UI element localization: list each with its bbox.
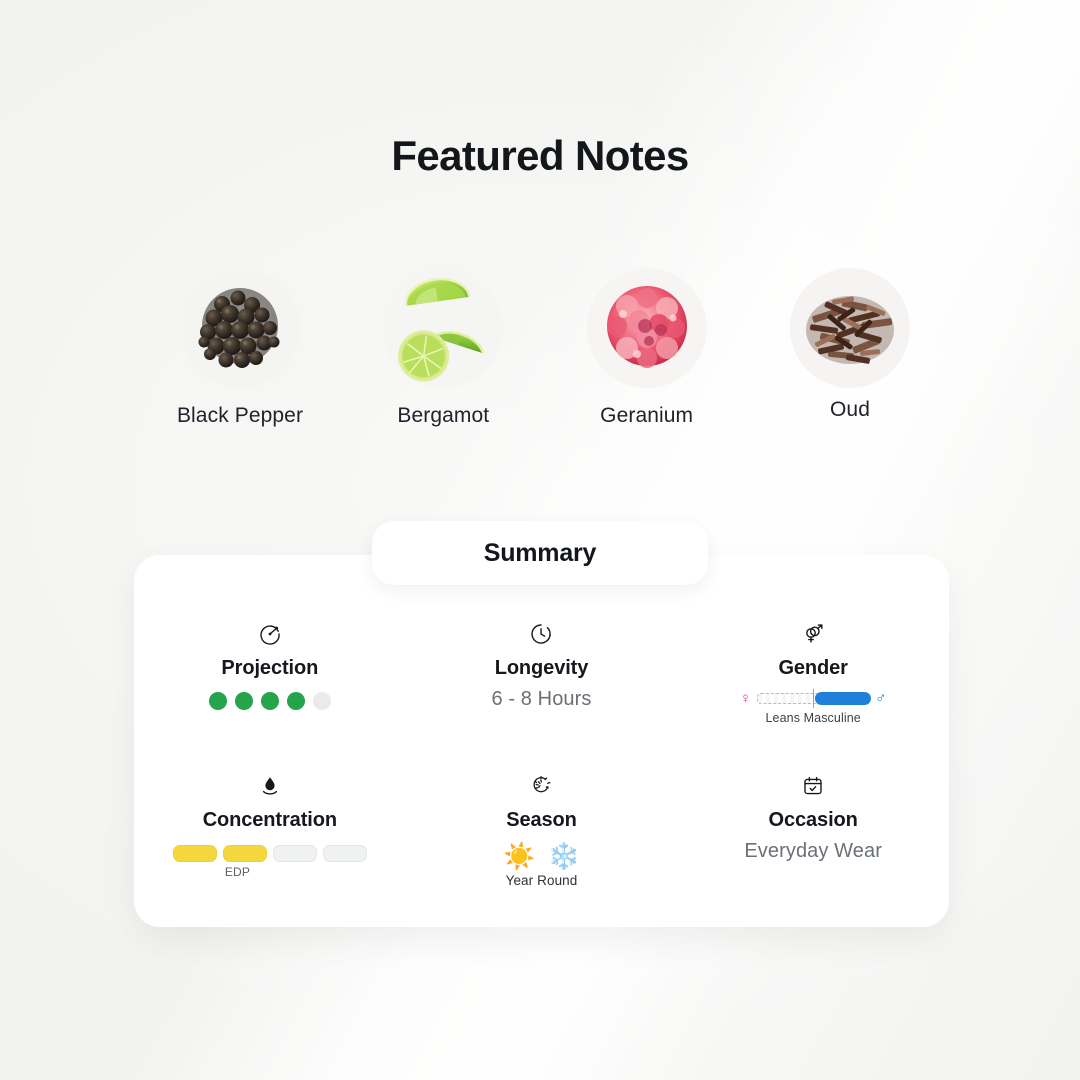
season-caption: Year Round bbox=[506, 873, 578, 888]
projection-dot bbox=[287, 692, 305, 710]
mars-icon: ♂ bbox=[875, 691, 886, 706]
stat-season: Season ☀️ ❄️ Year Round bbox=[406, 767, 678, 919]
concentration-bar bbox=[223, 845, 267, 862]
droplet-icon bbox=[258, 771, 282, 801]
note-item-bergamot[interactable]: Bergamot bbox=[353, 268, 533, 428]
featured-notes-row: Black Pepper bbox=[150, 268, 940, 428]
stat-title: Concentration bbox=[203, 809, 337, 832]
page-title: Featured Notes bbox=[0, 132, 1080, 180]
snowflake-emoji: ❄️ bbox=[547, 843, 579, 869]
projection-dot bbox=[261, 692, 279, 710]
concentration-bar bbox=[173, 845, 217, 862]
stat-title: Projection bbox=[221, 657, 318, 680]
stat-value: Everyday Wear bbox=[744, 840, 882, 863]
gender-caption: Leans Masculine bbox=[766, 711, 861, 725]
stat-title: Season bbox=[506, 809, 577, 832]
projection-dot bbox=[313, 692, 331, 710]
note-item-oud[interactable]: Oud bbox=[760, 268, 940, 422]
stat-title: Longevity bbox=[495, 657, 589, 680]
concentration-bars bbox=[173, 845, 367, 862]
oud-wood-chips-image bbox=[790, 268, 910, 388]
concentration-caption: EDP bbox=[225, 865, 250, 879]
stat-occasion: Occasion Everyday Wear bbox=[677, 767, 949, 919]
gender-slider[interactable]: ♀ ♂ bbox=[740, 691, 887, 706]
stat-projection: Projection bbox=[134, 615, 406, 767]
perfume-summary-page: Featured Notes bbox=[0, 0, 1080, 1080]
calendar-check-icon bbox=[801, 771, 825, 801]
summary-card: Projection bbox=[134, 555, 949, 927]
note-label: Geranium bbox=[600, 404, 693, 428]
stat-title: Gender bbox=[778, 657, 847, 680]
stat-longevity: Longevity 6 - 8 Hours bbox=[406, 615, 678, 767]
gender-slider-track[interactable] bbox=[757, 692, 869, 705]
note-item-geranium[interactable]: Geranium bbox=[557, 268, 737, 428]
projection-dot bbox=[235, 692, 253, 710]
projection-dot bbox=[209, 692, 227, 710]
projection-dots bbox=[209, 692, 331, 710]
stat-concentration: Concentration EDP bbox=[134, 767, 406, 919]
note-label: Black Pepper bbox=[177, 404, 303, 428]
summary-pill: Summary bbox=[372, 521, 708, 585]
sun-emoji: ☀️ bbox=[503, 843, 535, 869]
clock-icon bbox=[529, 619, 553, 649]
pink-geranium-flower-image bbox=[587, 268, 707, 388]
sun-burst-icon bbox=[529, 771, 553, 801]
note-label: Oud bbox=[830, 398, 870, 422]
stat-gender: Gender ♀ ♂ Leans Masculine bbox=[677, 615, 949, 767]
stat-title: Occasion bbox=[769, 809, 858, 832]
gender-venus-mars-icon bbox=[801, 619, 825, 649]
summary-stats-grid: Projection bbox=[134, 615, 949, 919]
stat-value: 6 - 8 Hours bbox=[491, 688, 591, 711]
note-label: Bergamot bbox=[397, 404, 489, 428]
gender-slider-fill bbox=[815, 692, 871, 705]
gender-slider-center-tick bbox=[813, 689, 814, 708]
black-peppercorns-image bbox=[180, 268, 300, 388]
venus-icon: ♀ bbox=[740, 691, 751, 706]
concentration-meter: EDP bbox=[173, 845, 367, 879]
summary-pill-label: Summary bbox=[484, 539, 597, 568]
concentration-bar bbox=[323, 845, 367, 862]
season-emojis: ☀️ ❄️ bbox=[503, 843, 580, 869]
note-item-black-pepper[interactable]: Black Pepper bbox=[150, 268, 330, 428]
gauge-icon bbox=[258, 619, 282, 649]
lime-wedges-image bbox=[383, 268, 503, 388]
concentration-bar bbox=[273, 845, 317, 862]
